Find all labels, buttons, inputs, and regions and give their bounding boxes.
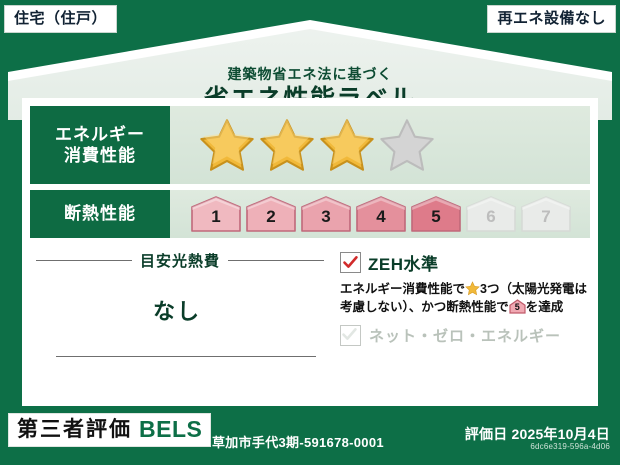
label-body-card: エネルギー 消費性能 断熱性能 1234567 目安光熱費 なし — [22, 98, 598, 406]
insulation-level-filled: 1 — [190, 195, 242, 233]
mini-house-level: 5 — [509, 303, 526, 312]
zeh-standard-label: ZEH水準 — [368, 250, 439, 275]
insulation-level-scale: 1234567 — [190, 195, 572, 233]
row-energy-performance: エネルギー 消費性能 — [30, 106, 590, 184]
star-filled-icon — [198, 117, 256, 173]
zeh-standard-row: ZEH水準 — [340, 250, 590, 275]
zeh-checkbox-checked — [340, 252, 361, 273]
rule-left — [36, 260, 132, 261]
row-insulation-body: 1234567 — [170, 190, 590, 238]
row-insulation-performance: 断熱性能 1234567 — [30, 190, 590, 238]
utility-cost-value: なし — [30, 294, 324, 326]
mini-house-icon: 5 — [509, 299, 526, 314]
row-energy-label-line2: 消費性能 — [64, 145, 136, 166]
bels-jp-text: 第三者評価 — [17, 419, 132, 440]
row-energy-label: エネルギー 消費性能 — [30, 106, 170, 184]
insulation-level-empty: 7 — [520, 195, 572, 233]
utility-cost-underline — [56, 356, 316, 357]
insulation-level-filled: 4 — [355, 195, 407, 233]
row-insulation-label: 断熱性能 — [30, 190, 170, 238]
net-zero-checkbox-unchecked — [340, 325, 361, 346]
utility-cost-title: 目安光熱費 — [140, 250, 220, 271]
insulation-level-number: 5 — [410, 208, 462, 225]
utility-cost-header: 目安光熱費 — [36, 250, 324, 271]
insulation-level-filled: 2 — [245, 195, 297, 233]
evaluation-date: 評価日 2025年10月4日 — [465, 424, 610, 444]
zeh-description: エネルギー消費性能で3つ（太陽光発電は考慮しない）、かつ断熱性能で5を達成 — [340, 280, 590, 316]
footer: 第三者評価 BELS 草加市手代3期-591678-0001 評価日 2025年… — [0, 410, 620, 465]
lower-section: 目安光熱費 なし ZEH水準 エネルギー消費性能で3つ（太陽光発電は考慮しない）… — [30, 246, 590, 396]
insulation-level-filled: 5 — [410, 195, 462, 233]
net-zero-energy-row: ネット・ゼロ・エネルギー — [340, 325, 590, 346]
evaluation-code: 6dc6e319-596a-4d06 — [530, 442, 610, 451]
star-rating — [198, 117, 436, 173]
bels-logo: 第三者評価 BELS — [8, 413, 211, 447]
bels-en-text: BELS — [139, 418, 202, 441]
utility-cost-panel: 目安光熱費 なし — [30, 246, 330, 396]
insulation-level-number: 7 — [520, 208, 572, 225]
star-filled-icon — [318, 117, 376, 173]
title-subtitle: 建築物省エネ法に基づく — [228, 67, 393, 82]
insulation-level-number: 2 — [245, 208, 297, 225]
insulation-level-number: 4 — [355, 208, 407, 225]
star-empty-icon — [378, 117, 436, 173]
zeh-panel: ZEH水準 エネルギー消費性能で3つ（太陽光発電は考慮しない）、かつ断熱性能で5… — [330, 246, 590, 396]
insulation-level-number: 6 — [465, 208, 517, 225]
mini-star-icon — [465, 281, 480, 296]
zeh-desc-part1: エネルギー消費性能で — [340, 282, 465, 296]
insulation-level-empty: 6 — [465, 195, 517, 233]
row-energy-body — [170, 106, 590, 184]
energy-label-root: 住宅（住戸） 再エネ設備なし 建築物省エネ法に基づく 省エネ性能ラベル エネルギ… — [0, 0, 620, 465]
net-zero-energy-label: ネット・ゼロ・エネルギー — [369, 325, 561, 346]
rule-right — [228, 260, 324, 261]
zeh-desc-stars: 3つ — [480, 282, 499, 296]
zeh-desc-part3: を達成 — [526, 300, 564, 314]
insulation-level-number: 1 — [190, 208, 242, 225]
project-id: 草加市手代3期-591678-0001 — [212, 432, 384, 451]
row-energy-label-line1: エネルギー — [55, 124, 145, 145]
star-filled-icon — [258, 117, 316, 173]
insulation-level-number: 3 — [300, 208, 352, 225]
insulation-level-filled: 3 — [300, 195, 352, 233]
